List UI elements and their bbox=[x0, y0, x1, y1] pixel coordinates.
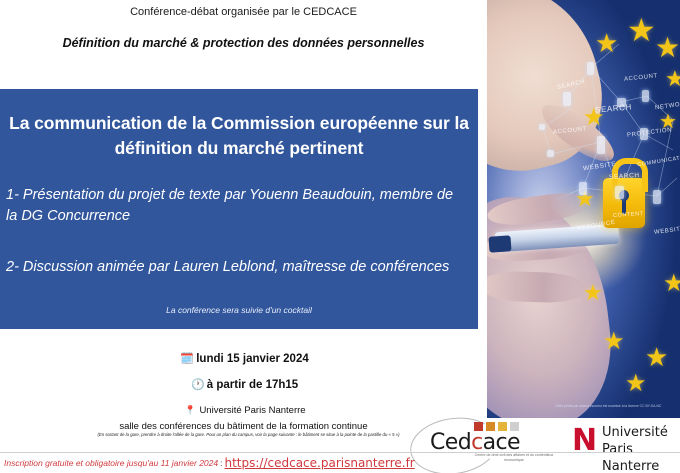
date-text: lundi 15 janvier 2024 bbox=[196, 353, 309, 365]
conference-poster: Conférence-débat organisée par le CEDCAC… bbox=[0, 0, 680, 473]
eu-star-icon: ★ bbox=[645, 344, 668, 370]
eu-star-icon: ★ bbox=[665, 68, 680, 90]
place-text: Université Paris Nanterre bbox=[199, 405, 305, 416]
eu-star-icon: ★ bbox=[603, 330, 625, 354]
theme-line: Définition du marché & protection des do… bbox=[0, 36, 487, 50]
registration-separator: : bbox=[220, 458, 222, 468]
network-node bbox=[563, 92, 571, 106]
network-node bbox=[597, 136, 605, 154]
eu-star-icon: ★ bbox=[583, 282, 603, 304]
smartphone-edge bbox=[488, 235, 511, 252]
registration-bar: Inscription gratuite et obligatoire jusq… bbox=[0, 452, 680, 473]
network-node bbox=[547, 150, 554, 157]
detail-place: 📍 Université Paris Nanterre bbox=[0, 405, 487, 416]
program-item-2: 2- Discussion animée par Lauren Leblond,… bbox=[6, 257, 468, 278]
clock-icon: 🕐 bbox=[189, 380, 207, 391]
network-node bbox=[615, 186, 624, 199]
page-title: La communication de la Commission europé… bbox=[6, 111, 472, 162]
network-node bbox=[642, 90, 649, 102]
program-item-1: 1- Présentation du projet de texte par Y… bbox=[6, 185, 468, 228]
main-title-panel: La communication de la Commission europé… bbox=[0, 89, 478, 329]
network-node bbox=[579, 182, 587, 195]
eu-data-protection-photo: ★★★★★★★★★★★★ SEARCHACCOUNTNETWORKSEARCHA… bbox=[487, 0, 680, 418]
eu-star-icon: ★ bbox=[595, 30, 618, 56]
detail-time: 🕐 à partir de 17h15 bbox=[0, 379, 487, 391]
eu-star-icon: ★ bbox=[655, 34, 680, 62]
network-node bbox=[587, 62, 594, 75]
eu-star-icon: ★ bbox=[625, 372, 647, 396]
network-node bbox=[653, 190, 661, 204]
registration-text: Inscription gratuite et obligatoire jusq… bbox=[4, 458, 218, 468]
detail-date: 🗓️ lundi 15 janvier 2024 bbox=[0, 353, 487, 365]
organizer-line: Conférence-débat organisée par le CEDCAC… bbox=[0, 6, 487, 18]
room-text: salle des conférences du bâtiment de la … bbox=[0, 421, 487, 432]
network-node bbox=[539, 124, 545, 130]
eu-star-icon: ★ bbox=[627, 14, 656, 46]
eu-star-icon: ★ bbox=[663, 272, 680, 296]
photo-credit: Cette photo par auteur inconnu est soumi… bbox=[555, 404, 661, 408]
calendar-icon: 🗓️ bbox=[178, 354, 196, 365]
upn-line1: Université bbox=[602, 424, 680, 441]
cocktail-note: La conférence sera suivie d'un cocktail bbox=[0, 305, 478, 315]
registration-link[interactable]: https://cedcace.parisnanterre.fr bbox=[224, 456, 414, 470]
time-text: à partir de 17h15 bbox=[207, 379, 298, 391]
map-pin-icon: 📍 bbox=[181, 406, 199, 415]
